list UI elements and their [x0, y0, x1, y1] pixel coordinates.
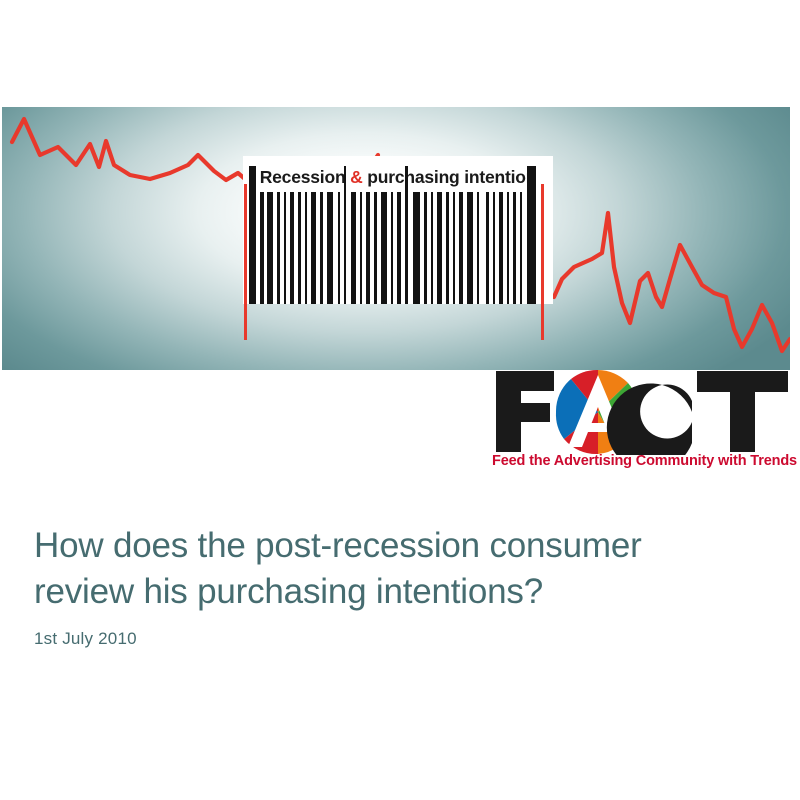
barcode-left-red-line	[244, 184, 247, 340]
fact-logo: Feed the Advertising Community with Tren…	[492, 367, 792, 479]
barcode-bar	[507, 192, 509, 304]
barcode-title-text: Recession & purchasing intention	[243, 162, 553, 192]
barcode-bar	[344, 166, 346, 304]
barcode-bar	[405, 166, 408, 304]
barcode-bar	[360, 192, 362, 304]
barcode-bar	[431, 192, 433, 304]
barcode-bars	[243, 192, 553, 304]
barcode-bar	[260, 192, 264, 304]
barcode-bar	[453, 192, 455, 304]
barcode-bar	[249, 166, 256, 304]
barcode-bar	[467, 192, 473, 304]
barcode-bar	[338, 192, 340, 304]
barcode-bar	[459, 192, 463, 304]
slide-headline-block: How does the post-recession consumer rev…	[34, 523, 754, 649]
barcode-bar	[520, 192, 522, 304]
barcode-bar	[493, 192, 495, 304]
barcode-bar	[374, 192, 377, 304]
barcode-bar	[527, 166, 536, 304]
barcode-bar	[513, 192, 516, 304]
page-title-line-2: review his purchasing intentions?	[34, 569, 754, 615]
barcode-bar	[446, 192, 449, 304]
barcode-bar	[320, 192, 323, 304]
barcode-bar	[424, 192, 427, 304]
barcode-bar	[298, 192, 301, 304]
slide-date: 1st July 2010	[34, 629, 754, 649]
barcode-bar	[499, 192, 503, 304]
barcode-bar	[277, 192, 280, 304]
barcode-bar	[305, 192, 307, 304]
title-banner-image: Recession & purchasing intention	[2, 107, 790, 370]
fact-logo-mark	[492, 367, 792, 455]
barcode-bar	[366, 192, 370, 304]
barcode-bar	[437, 192, 442, 304]
barcode-bar	[311, 192, 316, 304]
barcode-bar	[267, 192, 273, 304]
page-title: How does the post-recession consumer rev…	[34, 523, 754, 615]
page-title-line-1: How does the post-recession consumer	[34, 523, 754, 569]
barcode-bar	[327, 192, 333, 304]
barcode-bar	[290, 192, 294, 304]
barcode-title-suffix: purchasing intention	[363, 167, 537, 187]
fact-logo-tagline: Feed the Advertising Community with Tren…	[492, 453, 792, 469]
barcode-graphic: Recession & purchasing intention	[243, 156, 553, 304]
barcode-bar	[391, 192, 393, 304]
fact-logo-letter-t	[697, 371, 788, 452]
barcode-bar	[477, 192, 479, 304]
barcode-right-red-line	[541, 184, 544, 340]
barcode-bar	[284, 192, 286, 304]
barcode-bar	[397, 192, 401, 304]
barcode-title-ampersand: &	[350, 167, 362, 187]
barcode-bar	[486, 192, 489, 304]
barcode-bar	[413, 192, 420, 304]
barcode-bar	[351, 192, 356, 304]
fact-logo-letter-f	[496, 371, 554, 452]
barcode-title-prefix: Recession	[260, 167, 350, 187]
barcode-bar	[381, 192, 387, 304]
